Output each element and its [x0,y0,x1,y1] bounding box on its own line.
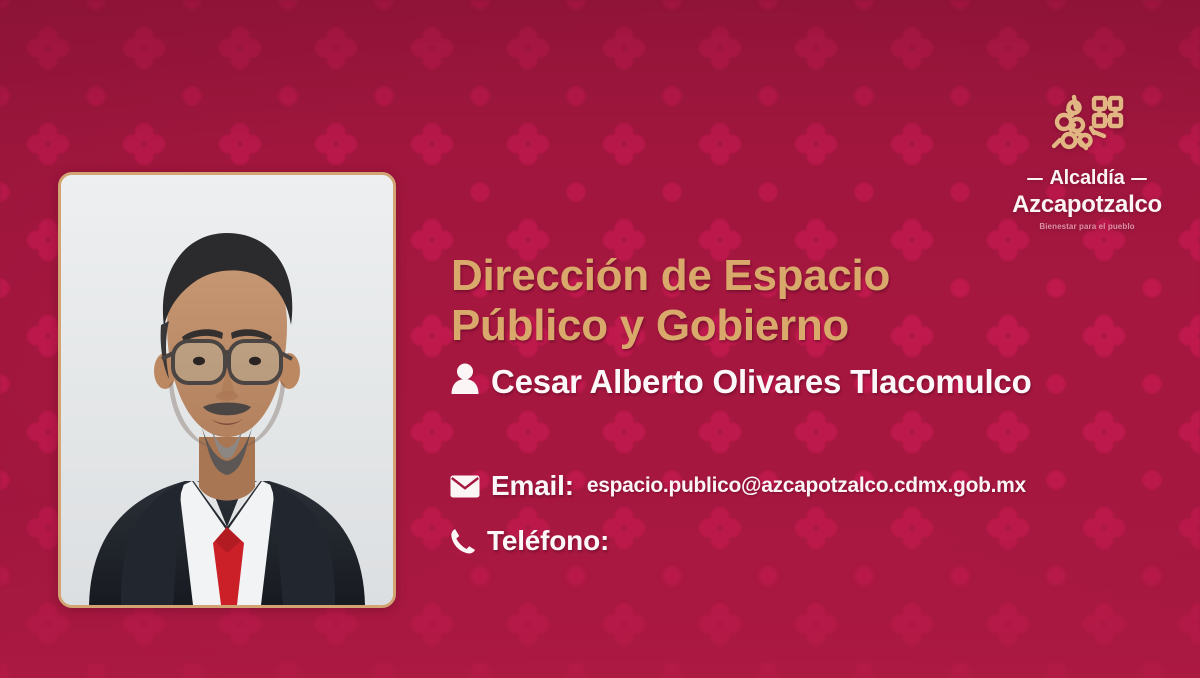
logo-azcapotzalco-text: Azcapotzalco [1012,191,1162,219]
phone-row: Teléfono: [450,525,950,557]
email-value[interactable]: espacio.publico@azcapotzalco.cdmx.gob.mx [587,474,1026,498]
person-name-row: Cesar Alberto Olivares Tlacomulco [450,362,1070,402]
phone-icon [450,527,476,555]
portrait-photo-frame [58,172,396,608]
envelope-icon [450,475,480,498]
person-icon [450,362,480,395]
logo-dash-left [1027,178,1043,180]
logo-alcaldia-line: Alcaldía [1012,167,1162,190]
page-title-line-2: Público y Gobierno [451,301,1051,350]
email-label: Email: [491,470,574,502]
page-title-line-1: Dirección de Espacio [451,251,1051,300]
phone-label: Teléfono: [487,525,609,557]
alcaldia-logo[interactable]: Alcaldía Azcapotzalco Bienestar para el … [1012,88,1162,231]
azcapotzalco-ant-glyph-icon [1012,88,1162,159]
logo-tagline: Bienestar para el pueblo [1012,222,1162,231]
portrait-illustration [61,175,393,605]
page-title: Dirección de Espacio Público y Gobierno [451,251,1051,350]
person-name: Cesar Alberto Olivares Tlacomulco [491,362,1032,402]
portrait-photo [61,175,393,605]
email-row: Email: espacio.publico@azcapotzalco.cdmx… [450,470,1150,502]
logo-dash-right [1131,178,1147,180]
logo-alcaldia-text: Alcaldía [1049,167,1124,190]
directory-contact-card: Dirección de Espacio Público y Gobierno … [0,0,1200,678]
